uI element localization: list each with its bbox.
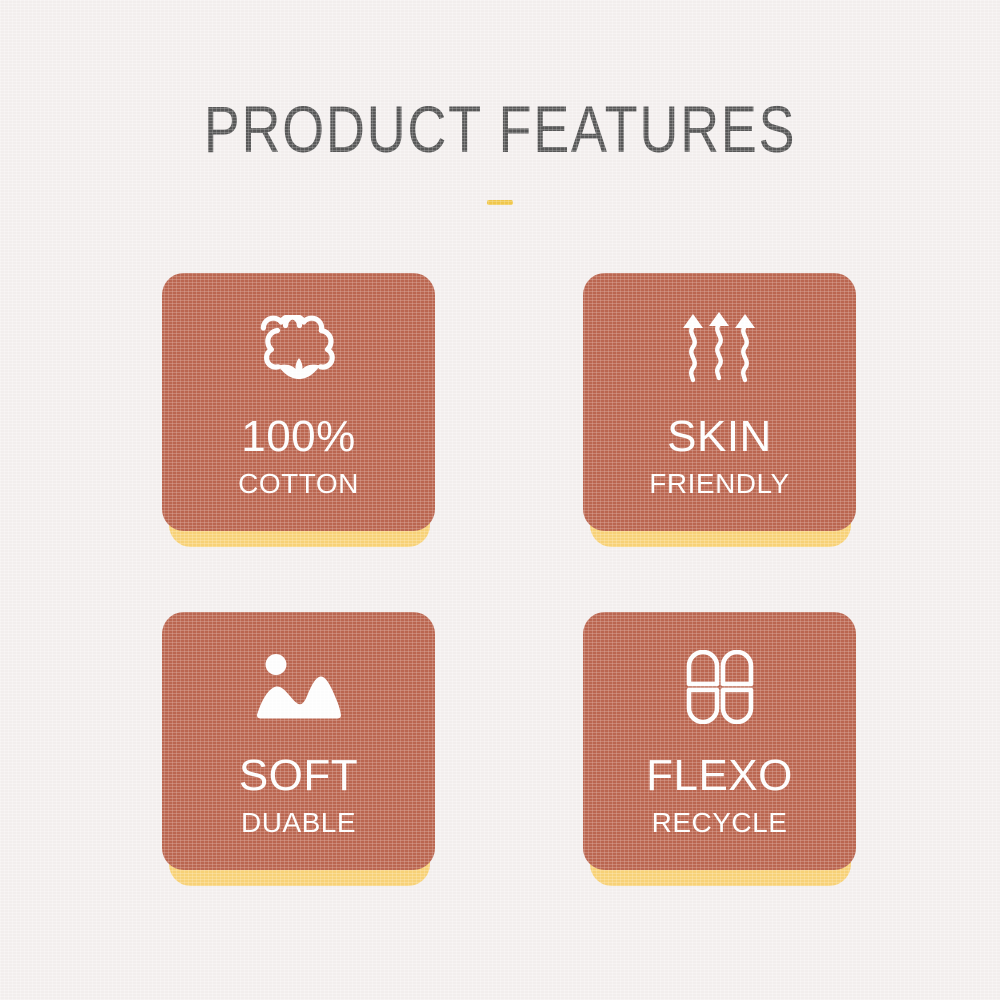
four-petal-clover-icon: [683, 650, 757, 724]
feature-card-skin-friendly[interactable]: SKIN FRIENDLY: [583, 273, 856, 531]
feature-card-flexo-recycle[interactable]: FLEXO RECYCLE: [583, 612, 856, 870]
feature-card-grid: 100% COTTON: [162, 273, 856, 870]
card-subtitle: DUABLE: [241, 809, 356, 837]
card-subtitle: FRIENDLY: [649, 470, 789, 498]
page-header: PRODUCT FEATURES: [0, 96, 1000, 205]
feature-card-cotton[interactable]: 100% COTTON: [162, 273, 435, 531]
card-body: SKIN FRIENDLY: [583, 273, 856, 531]
card-subtitle: RECYCLE: [652, 809, 788, 837]
card-title: SKIN: [667, 415, 772, 459]
card-body: FLEXO RECYCLE: [583, 612, 856, 870]
card-subtitle: COTTON: [238, 470, 359, 498]
card-body: SOFT DUABLE: [162, 612, 435, 870]
landscape-image-icon: [255, 650, 343, 724]
card-title: SOFT: [239, 754, 358, 798]
product-features-page: PRODUCT FEATURES 100% COTTON: [0, 0, 1000, 1000]
breathable-arrows-icon: [677, 311, 763, 385]
title-divider: [487, 200, 513, 205]
card-title: FLEXO: [646, 754, 793, 798]
card-title: 100%: [241, 415, 356, 459]
card-body: 100% COTTON: [162, 273, 435, 531]
feature-card-soft-durable[interactable]: SOFT DUABLE: [162, 612, 435, 870]
page-title: PRODUCT FEATURES: [90, 96, 910, 162]
cotton-boll-icon: [255, 311, 343, 385]
